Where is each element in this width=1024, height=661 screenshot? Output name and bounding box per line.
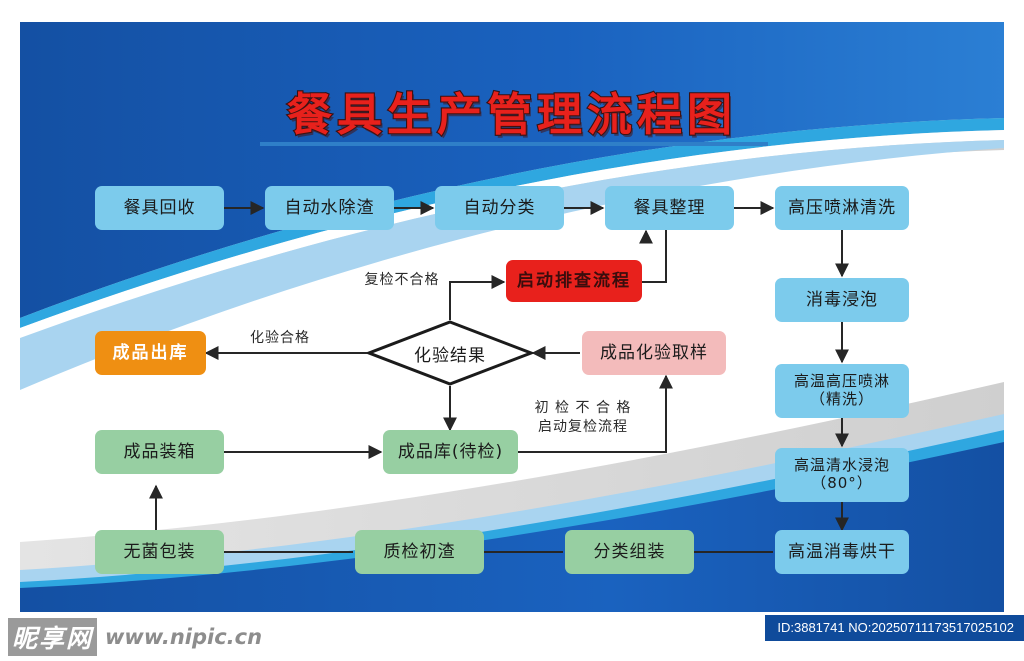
watermark-url: www.nipic.cn <box>105 625 262 649</box>
poster-canvas: 餐具生产管理流程图 <box>20 22 1004 612</box>
poster-title-wrap: 餐具生产管理流程图 <box>20 78 1004 143</box>
title-underline <box>260 142 768 146</box>
node-start-investigation[interactable]: 启动排查流程 <box>506 260 642 302</box>
node-recycle[interactable]: 餐具回收 <box>95 186 224 230</box>
node-product-boxing[interactable]: 成品装箱 <box>95 430 224 474</box>
watermark-logo: 昵享网 <box>8 618 97 656</box>
node-tableware-arrange[interactable]: 餐具整理 <box>605 186 734 230</box>
footer-bar: 昵享网 www.nipic.cn ID:3881741 NO:202507111… <box>0 612 1024 661</box>
edge-label-lab-pass: 化验合格 <box>225 329 335 348</box>
page-title: 餐具生产管理流程图 <box>287 78 737 143</box>
node-sterile-packing[interactable]: 无菌包装 <box>95 530 224 574</box>
node-auto-sorting[interactable]: 自动分类 <box>435 186 564 230</box>
node-product-outbound[interactable]: 成品出库 <box>95 331 206 375</box>
image-id-badge: ID:3881741 NO:20250711173517025102 <box>765 615 1024 641</box>
decision-label: 化验结果 <box>414 341 486 366</box>
node-auto-water-deslag[interactable]: 自动水除渣 <box>265 186 394 230</box>
edge-label-initial-fail: 初 检 不 合 格 启动复检流程 <box>515 399 651 437</box>
node-high-pressure-wash[interactable]: 高压喷淋清洗 <box>775 186 909 230</box>
node-sort-assemble[interactable]: 分类组装 <box>565 530 694 574</box>
node-hot-disinfect-dry[interactable]: 高温消毒烘干 <box>775 530 909 574</box>
watermark: 昵享网 www.nipic.cn <box>8 618 262 656</box>
node-qc-initial[interactable]: 质检初渣 <box>355 530 484 574</box>
node-hot-high-pressure-spray[interactable]: 高温高压喷淋 （精洗） <box>775 364 909 418</box>
node-disinfect-soak[interactable]: 消毒浸泡 <box>775 278 909 322</box>
node-warehouse-pending[interactable]: 成品库(待检) <box>383 430 518 474</box>
edge-label-recheck-fail: 复检不合格 <box>350 271 454 290</box>
decision-lab-result[interactable]: 化验结果 <box>367 320 533 386</box>
node-hot-clean-water-soak[interactable]: 高温清水浸泡 （80°） <box>775 448 909 502</box>
node-product-sampling[interactable]: 成品化验取样 <box>582 331 726 375</box>
